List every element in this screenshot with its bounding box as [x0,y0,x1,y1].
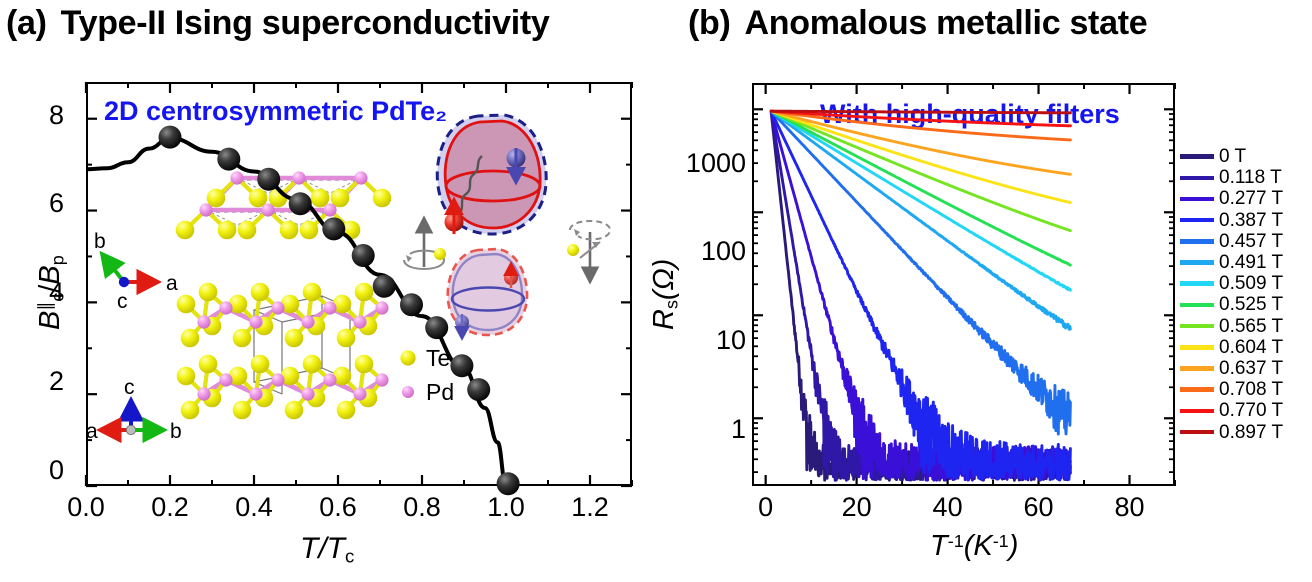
pd-atom [197,315,210,328]
legend-color-swatch [1180,197,1214,202]
te-atom [218,221,237,240]
data-point [159,126,182,149]
legend-label: 0.277 T [1219,189,1283,208]
legend-color-swatch [1180,260,1214,265]
pd-atom [301,387,314,400]
pd-atom [197,387,210,400]
te-atom [177,367,196,386]
data-point [373,275,396,298]
legend-item[interactable]: 0.457 T [1180,231,1312,252]
panel-a-xtick-3: 0.6 [296,492,380,523]
pd-atom [219,301,232,314]
pd-atom [375,373,388,386]
pd-atom [249,387,262,400]
legend-item[interactable]: 0.387 T [1180,210,1312,231]
legend-color-swatch [1180,154,1214,159]
legend-color-swatch [1180,366,1214,371]
panel-a-heading: (a)Type-II Ising superconductivity [0,4,662,43]
legend-color-swatch [1180,239,1214,244]
panel-b-x-axis-title: T-1(K-1) [930,530,1018,563]
legend-label: 0.525 T [1219,295,1283,314]
panel-b-ytick-10: 10 [660,325,746,356]
legend-label: 0.708 T [1219,380,1283,399]
panel-b-y-axis-title: Rs(Ω) [648,259,682,330]
data-point [400,293,423,316]
legend-label: 0.637 T [1219,359,1283,378]
data-point [425,316,448,339]
panel-a-xtick-5: 1.0 [464,492,548,523]
data-point [497,472,520,495]
panel-b-tag: (b) [688,4,731,43]
data-point [257,168,280,191]
legend-label: 0.491 T [1219,253,1283,272]
panel-a-ytick-4: 4 [18,277,64,308]
triad-label-b2: b [170,420,182,443]
panel-a-ytick-0: 0 [18,455,64,486]
legend-color-swatch [1180,176,1214,181]
legend-item[interactable]: 0.565 T [1180,316,1312,337]
panel-a-xtick-1: 0.2 [128,492,212,523]
legend-label: 0.509 T [1219,274,1283,293]
te-atom [181,329,200,348]
pd-atom [353,387,366,400]
legend-item[interactable]: 0 T [1180,146,1312,167]
legend-label: 0.897 T [1219,423,1283,442]
te-atom [285,329,304,348]
legend-label: 0.604 T [1219,338,1283,357]
te-atom [199,355,218,374]
legend-color-swatch [1180,387,1214,392]
te-atom [303,355,322,374]
legend-label: 0.770 T [1219,401,1283,420]
legend-color-swatch [1180,409,1214,414]
legend-item[interactable]: 0.770 T [1180,400,1312,421]
te-atom [337,401,356,420]
legend-label: 0.565 T [1219,317,1283,336]
panel-a: (a)Type-II Ising superconductivity 2D ce… [0,0,656,582]
inset-legend-label-pd: Pd [426,379,454,405]
triad-label-c2: c [124,376,135,399]
pd-atom [261,203,274,216]
pd-atom [354,171,367,184]
spin-rotation-left [404,218,446,269]
te-atom [176,221,195,240]
legend-color-swatch [1180,281,1214,286]
pd-atom [292,171,305,184]
panel-b-heading: (b)Anomalous metallic state [656,4,1312,43]
legend-color-swatch [1180,345,1214,350]
data-point [467,378,490,401]
panel-b-ytick-100: 100 [660,236,746,267]
data-point [322,217,345,240]
data-point [352,244,375,267]
pd-atom [353,315,366,328]
legend-color-swatch [1180,303,1214,308]
panel-b-xtick-60: 60 [999,492,1079,523]
te-atom [238,221,257,240]
te-atom [280,221,299,240]
triad-label-c: c [117,290,128,313]
pd-atom [271,373,284,386]
triad-label-a: a [166,272,178,295]
te-atom [373,189,392,208]
te-atom [181,401,200,420]
inset-legend: Te Pd [400,345,454,405]
pd-atom [323,373,336,386]
data-point [217,148,240,171]
panel-b-xtick-0: 0 [726,492,806,523]
legend-item[interactable]: 0.604 T [1180,337,1312,358]
panel-b-xtick-20: 20 [817,492,897,523]
panel-a-ytick-8: 8 [18,100,64,131]
panel-b-curves [771,111,1070,480]
axis-triad-top: b a c [94,230,178,313]
data-point [450,354,473,377]
panel-b-canvas [752,83,1175,486]
pd-atom [323,301,336,314]
legend-label: 0.118 T [1219,168,1282,187]
legend-item[interactable]: 0.525 T [1180,294,1312,315]
panel-a-xtick-0: 0.0 [44,492,128,523]
spin-rotation-right [567,221,610,282]
crystal-structure-top-view [176,171,392,239]
panel-a-tag: (a) [6,4,47,43]
pd-atom [230,171,243,184]
te-atom [177,295,196,314]
panel-b-xtick-80: 80 [1090,492,1170,523]
panel-a-ytick-6: 6 [18,188,64,219]
legend-item[interactable]: 0.637 T [1180,358,1312,379]
te-atom [251,283,270,302]
triad-label-b: b [94,230,106,253]
pd-atom [323,203,336,216]
data-point [289,192,312,215]
panel-b-ytick-1: 1 [660,414,746,445]
pd-atom [375,301,388,314]
pd-atom [249,315,262,328]
legend-item[interactable]: 0.897 T [1180,421,1312,442]
te-atom [285,401,304,420]
resistance-curve [771,111,1070,265]
legend-color-swatch [1180,218,1214,223]
crystal-structure-side-view [177,283,389,420]
te-atom [233,329,252,348]
panel-a-title: Type-II Ising superconductivity [61,4,550,42]
panel-a-ytick-2: 2 [18,366,64,397]
legend-item[interactable]: 0.708 T [1180,379,1312,400]
legend-item[interactable]: 0.277 T [1180,188,1312,209]
te-atom [337,329,356,348]
legend-item[interactable]: 0.118 T [1180,167,1312,188]
legend-item[interactable]: 0.509 T [1180,273,1312,294]
te-atom [199,283,218,302]
panel-a-xtick-6: 1.2 [548,492,632,523]
panel-a-xtick-2: 0.4 [212,492,296,523]
te-atom [233,401,252,420]
panel-a-xtick-4: 0.8 [380,492,464,523]
resistance-curve [771,111,1070,329]
pd-atom [271,301,284,314]
legend-item[interactable]: 0.491 T [1180,252,1312,273]
panel-b-xtick-40: 40 [908,492,988,523]
panel-a-x-axis-title: T/Tc [300,532,354,568]
pd-atom [199,203,212,216]
legend-label: 0 T [1219,147,1246,166]
panel-b-legend: 0 T0.118 T0.277 T0.387 T0.457 T0.491 T0.… [1180,146,1312,443]
pd-atom [219,373,232,386]
legend-label: 0.457 T [1219,232,1283,251]
te-atom [355,283,374,302]
te-atom [300,221,319,240]
legend-color-swatch [1180,430,1214,435]
te-atom [251,355,270,374]
panel-b-ytick-1000: 1000 [660,148,746,179]
axis-triad-bottom: c b a [86,376,182,443]
pd-atom [301,315,314,328]
legend-color-swatch [1180,324,1214,329]
resistance-curve [771,111,1070,113]
legend-label: 0.387 T [1219,211,1283,230]
te-atom [355,355,374,374]
triad-label-a2: a [86,420,98,443]
panel-a-canvas: b a c c b a Te Pd [86,82,632,486]
ising-spin-cartoon [404,115,610,338]
te-atom [303,283,322,302]
panel-b-title: Anomalous metallic state [745,4,1148,42]
